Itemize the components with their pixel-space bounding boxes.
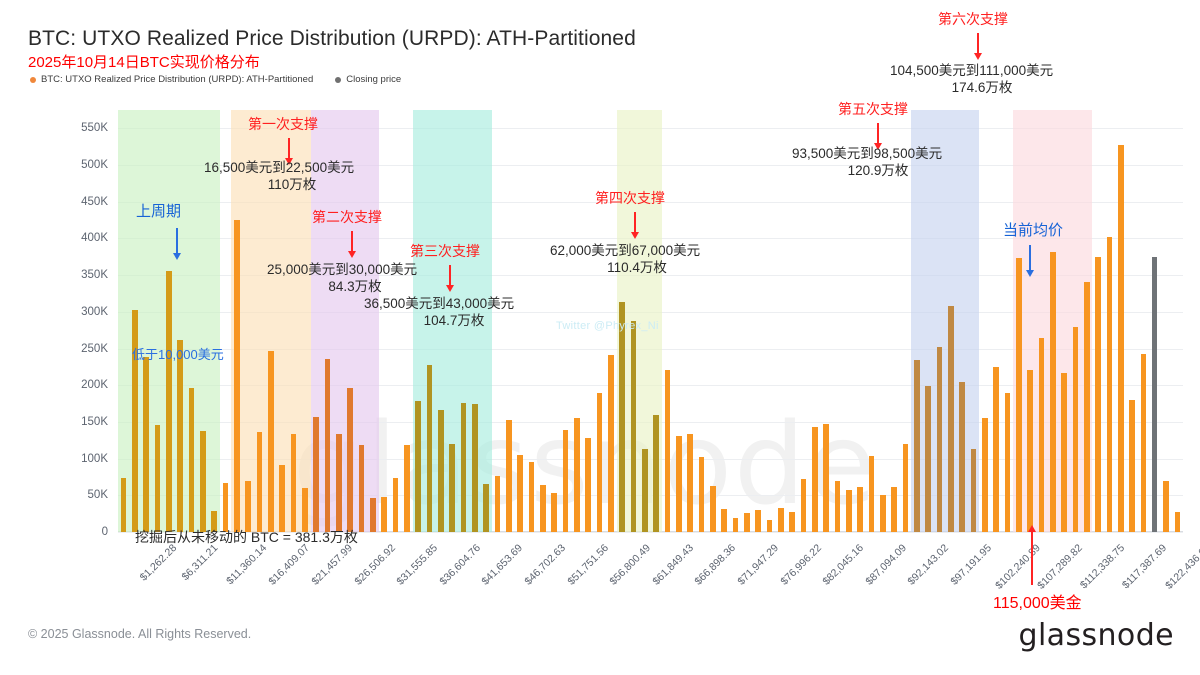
- chart-bar[interactable]: [302, 488, 308, 532]
- chart-bar[interactable]: [313, 417, 319, 532]
- annotation-support-2-supply: 84.3万枚: [267, 278, 443, 295]
- chart-bar[interactable]: [631, 321, 637, 532]
- chart-bar[interactable]: [721, 509, 727, 532]
- legend-item-urpd[interactable]: BTC: UTXO Realized Price Distribution (U…: [30, 74, 313, 85]
- chart-bar[interactable]: [370, 498, 376, 532]
- chart-bar[interactable]: [608, 355, 614, 532]
- chart-bar[interactable]: [891, 487, 897, 532]
- chart-bar[interactable]: [257, 432, 263, 532]
- chart-bar[interactable]: [1061, 373, 1067, 532]
- x-axis-tick-label: $71,947.29: [735, 542, 781, 588]
- y-axis-tick-label: 500K: [46, 159, 108, 171]
- chart-legend: BTC: UTXO Realized Price Distribution (U…: [30, 74, 401, 85]
- chart-bar[interactable]: [914, 360, 920, 532]
- legend-swatch-icon: [335, 77, 341, 83]
- chart-bar[interactable]: [189, 388, 195, 532]
- chart-bar[interactable]: [291, 434, 297, 532]
- chart-bar[interactable]: [529, 462, 535, 532]
- annotation-support-2-title: 第二次支撑: [312, 207, 382, 227]
- chart-bar[interactable]: [687, 434, 693, 532]
- chart-bar[interactable]: [733, 518, 739, 532]
- y-axis-tick-label: 50K: [46, 489, 108, 501]
- chart-bar[interactable]: [1107, 237, 1113, 532]
- chart-bar[interactable]: [245, 481, 251, 532]
- chart-bar[interactable]: [1163, 481, 1169, 532]
- closing-price-bar[interactable]: [1152, 257, 1158, 532]
- x-axis-tick-label: $31,555.85: [395, 542, 441, 588]
- legend-item-closing-price[interactable]: Closing price: [335, 74, 401, 85]
- chart-bar[interactable]: [347, 388, 353, 532]
- x-axis-tick-label: $36,604.76: [437, 542, 483, 588]
- annotation-support-6-range: 104,500美元到111,000美元: [890, 62, 1053, 79]
- y-axis-tick-label: 450K: [46, 196, 108, 208]
- chart-bar[interactable]: [903, 444, 909, 532]
- annotation-support-2-arrow-icon: [351, 231, 353, 252]
- x-axis-tick-label: $87,094.09: [863, 542, 909, 588]
- x-axis-tick-label: $16,409.07: [267, 542, 313, 588]
- x-axis-tick-label: $61,849.43: [650, 542, 696, 588]
- chart-bar[interactable]: [778, 508, 784, 532]
- x-axis-tick-label: $26,506.92: [352, 542, 398, 588]
- annotation-support-5-range: 93,500美元到98,500美元: [792, 145, 942, 162]
- x-axis-tick-label: $41,653.69: [480, 542, 526, 588]
- annotation-prev-cycle-detail: 低于10,000美元: [132, 344, 224, 363]
- chart-bar[interactable]: [574, 418, 580, 532]
- chart-bar[interactable]: [1027, 370, 1033, 532]
- chart-bar[interactable]: [551, 493, 557, 532]
- chart-bar[interactable]: [699, 457, 705, 532]
- x-axis-tick-label: $11,360.14: [224, 542, 269, 587]
- chart-bar[interactable]: [823, 424, 829, 532]
- annotation-support-1-title: 第一次支撑: [248, 114, 318, 134]
- chart-bar[interactable]: [359, 445, 365, 532]
- chart-bar[interactable]: [438, 410, 444, 532]
- chart-bar[interactable]: [869, 456, 875, 532]
- chart-bar[interactable]: [223, 483, 229, 532]
- chart-bar[interactable]: [585, 438, 591, 532]
- current-price-label: 115,000美金: [993, 589, 1082, 613]
- chart-bar[interactable]: [835, 481, 841, 532]
- chart-bar[interactable]: [393, 478, 399, 532]
- chart-bar[interactable]: [427, 365, 433, 532]
- legend-label-closing-price: Closing price: [346, 74, 401, 85]
- annotation-support-4-supply: 110.4万枚: [550, 259, 724, 276]
- page-subtitle: 2025年10月14日BTC实现价格分布: [28, 51, 260, 72]
- chart-bar[interactable]: [971, 449, 977, 532]
- x-axis-tick-label: $112,338.75: [1078, 542, 1127, 591]
- x-axis-tick-label: $56,800.49: [608, 542, 654, 588]
- chart-bar[interactable]: [1073, 327, 1079, 532]
- chart-bar[interactable]: [710, 486, 716, 532]
- x-axis-tick-label: $51,751.56: [565, 542, 611, 588]
- chart-bar[interactable]: [200, 431, 206, 532]
- chart-bar[interactable]: [597, 393, 603, 532]
- annotation-support-5-supply: 120.9万枚: [792, 162, 964, 179]
- y-axis-tick-label: 250K: [46, 343, 108, 355]
- chart-bar[interactable]: [404, 445, 410, 532]
- chart-bar[interactable]: [540, 485, 546, 532]
- annotation-support-3-title: 第三次支撑: [410, 241, 480, 261]
- chart-bar[interactable]: [325, 359, 331, 532]
- chart-bar[interactable]: [619, 302, 625, 532]
- legend-label-urpd: BTC: UTXO Realized Price Distribution (U…: [41, 74, 313, 85]
- annotation-support-6-arrow-icon: [977, 33, 979, 54]
- annotation-support-4-arrow-icon: [634, 212, 636, 233]
- x-axis-tick-label: $97,191.95: [948, 542, 994, 588]
- legend-swatch-icon: [30, 77, 36, 83]
- chart-bar[interactable]: [279, 465, 285, 532]
- chart-bar[interactable]: [517, 455, 523, 532]
- twitter-watermark: Twitter @Phyrex_Ni: [556, 320, 659, 332]
- x-axis-tick-label: $1,262.28: [137, 542, 179, 584]
- chart-bar[interactable]: [812, 427, 818, 532]
- chart-bar[interactable]: [472, 404, 478, 532]
- annotation-current-avg-title: 当前均价: [1003, 219, 1063, 240]
- annotation-support-5-arrow-icon: [877, 123, 879, 144]
- chart-bar[interactable]: [1141, 354, 1147, 532]
- chart-bar[interactable]: [846, 490, 852, 532]
- chart-bar[interactable]: [506, 420, 512, 532]
- annotation-support-3-supply: 104.7万枚: [364, 312, 544, 329]
- never-moved-note: 挖掘后从未移动的 BTC = 381.3万枚: [135, 527, 358, 547]
- annotation-support-6-supply: 174.6万枚: [890, 79, 1074, 96]
- annotation-support-4-title: 第四次支撑: [595, 188, 665, 208]
- chart-bar[interactable]: [1129, 400, 1135, 532]
- chart-bar[interactable]: [461, 403, 467, 532]
- page-title: BTC: UTXO Realized Price Distribution (U…: [28, 27, 636, 51]
- chart-bar[interactable]: [937, 347, 943, 532]
- chart-bar[interactable]: [857, 487, 863, 533]
- y-axis-tick-label: 150K: [46, 416, 108, 428]
- chart-bar[interactable]: [925, 386, 931, 532]
- y-axis-tick-label: 100K: [46, 453, 108, 465]
- y-axis-tick-label: 200K: [46, 379, 108, 391]
- annotation-support-3-range: 36,500美元到43,000美元: [364, 295, 514, 312]
- annotation-support-5-title: 第五次支撑: [838, 99, 908, 119]
- chart-bar[interactable]: [1005, 393, 1011, 532]
- current-price-arrow-icon: [1031, 531, 1033, 585]
- x-axis-tick-label: $6,311.21: [180, 542, 221, 583]
- chart-bar[interactable]: [755, 510, 761, 532]
- glassnode-logo: glassnode: [1019, 618, 1175, 653]
- chart-bar[interactable]: [948, 306, 954, 532]
- chart-bar[interactable]: [381, 497, 387, 532]
- chart-bar[interactable]: [234, 220, 240, 532]
- chart-bar[interactable]: [121, 478, 127, 532]
- chart-bar[interactable]: [959, 382, 965, 532]
- chart-bar[interactable]: [177, 340, 183, 532]
- y-axis-tick-label: 550K: [46, 122, 108, 134]
- chart-bar[interactable]: [563, 430, 569, 532]
- annotation-support-4-range: 62,000美元到67,000美元: [550, 242, 700, 259]
- y-axis-tick-label: 0: [46, 526, 108, 538]
- annotation-prev-cycle-title: 上周期: [136, 200, 181, 221]
- chart-bar[interactable]: [767, 520, 773, 532]
- annotation-support-3-arrow-icon: [449, 265, 451, 286]
- chart-bar[interactable]: [1084, 282, 1090, 532]
- chart-bar[interactable]: [1039, 338, 1045, 532]
- chart-bar[interactable]: [155, 425, 161, 532]
- chart-bar[interactable]: [744, 513, 750, 532]
- chart-bar[interactable]: [1118, 145, 1124, 533]
- annotation-support-1-range: 16,500美元到22,500美元: [204, 159, 354, 176]
- copyright-text: © 2025 Glassnode. All Rights Reserved.: [28, 627, 251, 641]
- chart-bar[interactable]: [1095, 257, 1101, 532]
- chart-bar[interactable]: [1050, 252, 1056, 532]
- chart-bar[interactable]: [801, 479, 807, 532]
- x-axis-tick-label: $21,457.99: [309, 542, 355, 588]
- chart-bar[interactable]: [880, 495, 886, 532]
- chart-bar[interactable]: [1016, 258, 1022, 532]
- chart-bar[interactable]: [449, 444, 455, 532]
- chart-bar[interactable]: [993, 367, 999, 532]
- annotation-support-1-supply: 110万枚: [204, 176, 380, 193]
- chart-bar[interactable]: [1175, 512, 1181, 532]
- chart-bar[interactable]: [336, 434, 342, 532]
- y-axis-tick-label: 350K: [46, 269, 108, 281]
- chart-bar[interactable]: [653, 415, 659, 532]
- x-axis-tick-label: $92,143.02: [906, 542, 952, 588]
- chart-bar[interactable]: [143, 357, 149, 532]
- x-axis-tick-label: $66,898.36: [693, 542, 739, 588]
- chart-bar[interactable]: [166, 271, 172, 532]
- chart-bar[interactable]: [415, 401, 421, 532]
- chart-bar[interactable]: [268, 351, 274, 532]
- x-axis-tick-label: $46,702.63: [522, 542, 568, 588]
- annotation-current-avg-arrow-icon: [1029, 245, 1031, 271]
- annotation-prev-cycle-arrow-icon: [176, 228, 178, 254]
- annotation-support-2-range: 25,000美元到30,000美元: [267, 261, 417, 278]
- y-axis-tick-label: 300K: [46, 306, 108, 318]
- x-axis-tick-label: $82,045.16: [821, 542, 867, 588]
- x-axis-tick-label: $117,387.69: [1120, 542, 1169, 591]
- chart-bar[interactable]: [132, 310, 138, 532]
- x-axis-tick-label: $102,240.89: [993, 542, 1043, 592]
- chart-bar[interactable]: [495, 476, 501, 532]
- chart-bar[interactable]: [665, 370, 671, 532]
- annotation-support-6-title: 第六次支撑: [938, 9, 1008, 29]
- chart-bar[interactable]: [483, 484, 489, 532]
- chart-bar[interactable]: [676, 436, 682, 532]
- chart-bar[interactable]: [789, 512, 795, 532]
- chart-bar[interactable]: [642, 449, 648, 532]
- y-axis-tick-label: 400K: [46, 232, 108, 244]
- annotation-support-1-arrow-icon: [288, 138, 290, 159]
- chart-bar[interactable]: [982, 418, 988, 532]
- x-axis-tick-label: $76,996.22: [778, 542, 824, 588]
